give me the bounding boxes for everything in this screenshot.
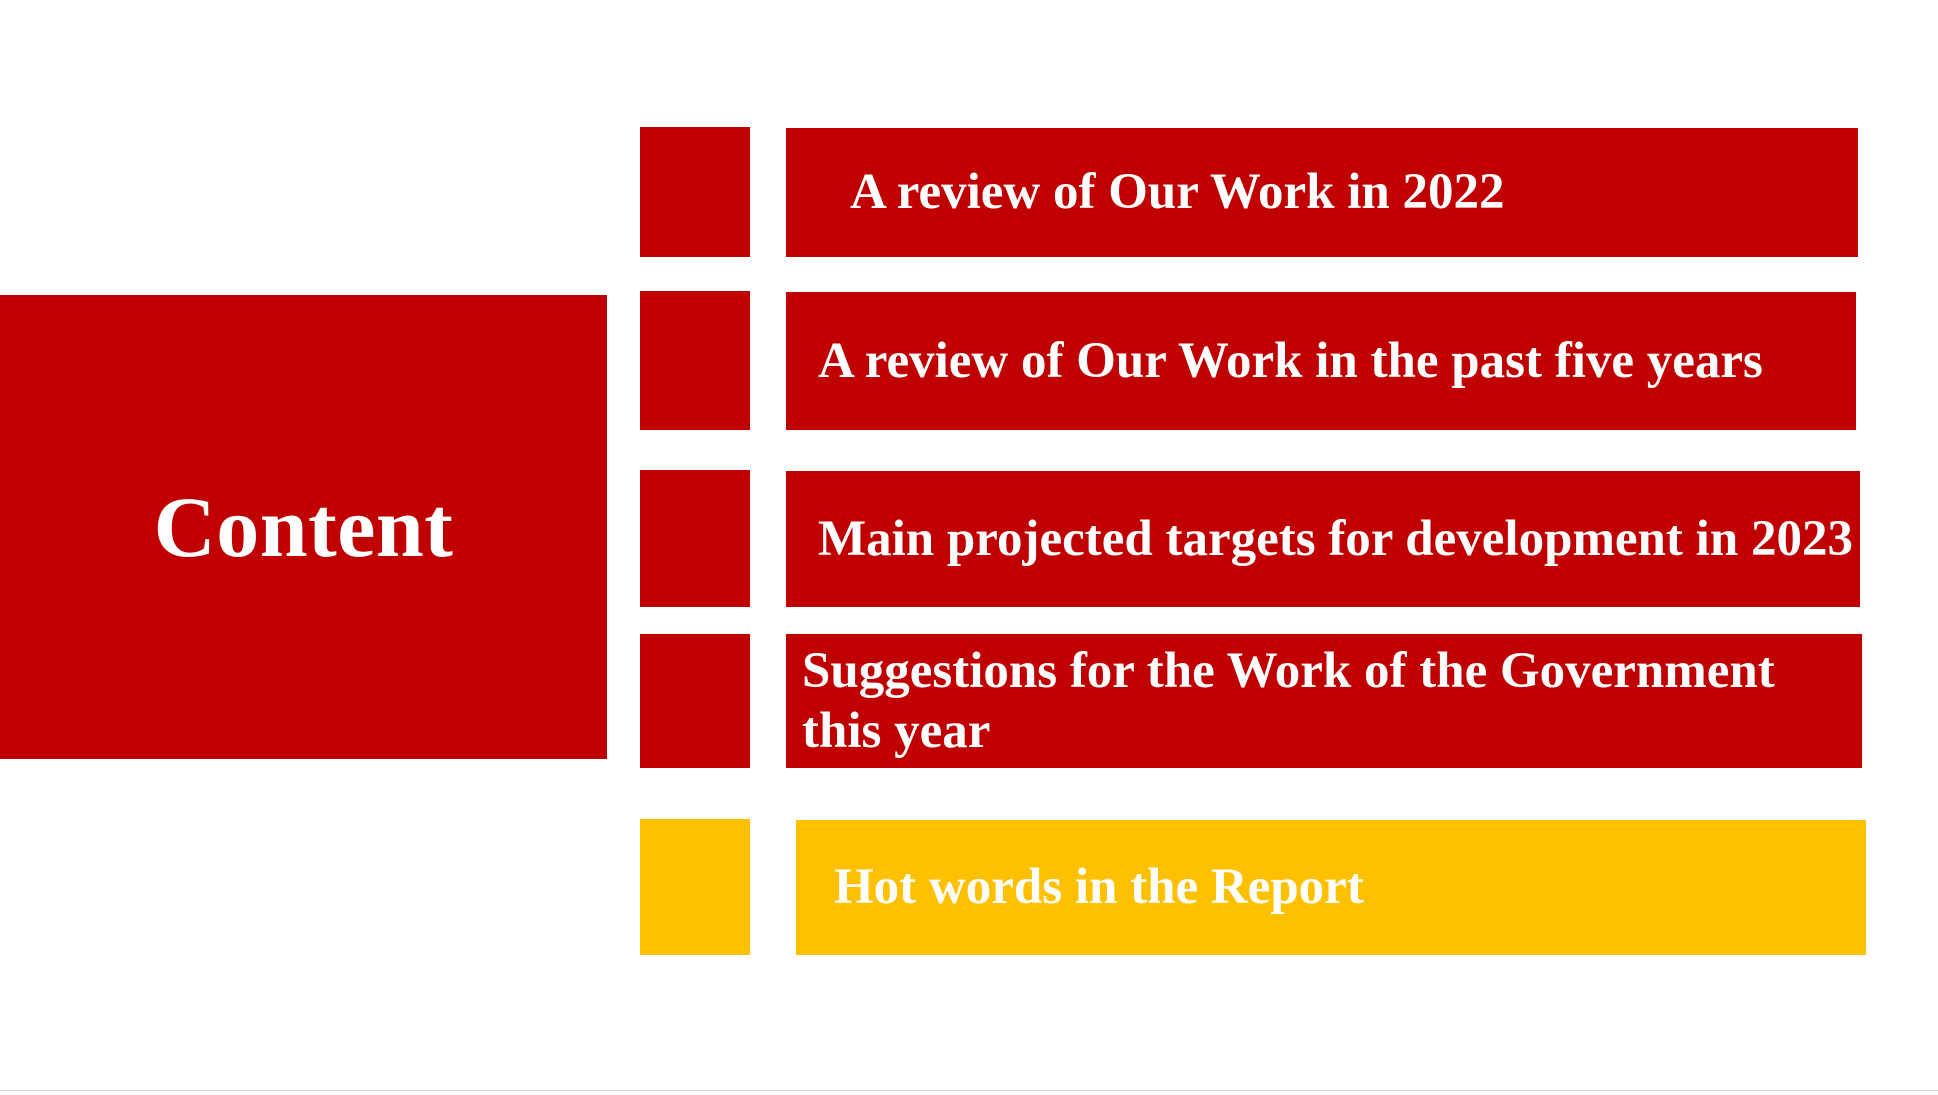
square-marker-icon (640, 470, 750, 607)
square-marker-icon (640, 819, 750, 955)
agenda-item-1-label: A review of Our Work in 2022 (786, 162, 1505, 222)
agenda-item-4-bar[interactable]: Suggestions for the Work of the Governme… (786, 634, 1862, 768)
content-title-label: Content (154, 484, 454, 570)
agenda-item-3-bar[interactable]: Main projected targets for development i… (786, 471, 1860, 607)
agenda-item-2-bar[interactable]: A review of Our Work in the past five ye… (786, 292, 1856, 430)
slide-canvas: Content A review of Our Work in 2022 A r… (0, 0, 1938, 1095)
agenda-item-4-label: Suggestions for the Work of the Governme… (786, 641, 1862, 761)
square-marker-icon (640, 291, 750, 430)
bottom-divider (0, 1090, 1938, 1091)
agenda-item-1-bar[interactable]: A review of Our Work in 2022 (786, 128, 1858, 257)
agenda-item-5-bar[interactable]: Hot words in the Report (796, 820, 1866, 955)
content-title-panel: Content (0, 295, 607, 759)
agenda-item-2-label: A review of Our Work in the past five ye… (786, 331, 1763, 391)
agenda-item-3-label: Main projected targets for development i… (786, 509, 1853, 569)
square-marker-icon (640, 634, 750, 768)
square-marker-icon (640, 127, 750, 257)
agenda-item-5-label: Hot words in the Report (796, 857, 1364, 917)
